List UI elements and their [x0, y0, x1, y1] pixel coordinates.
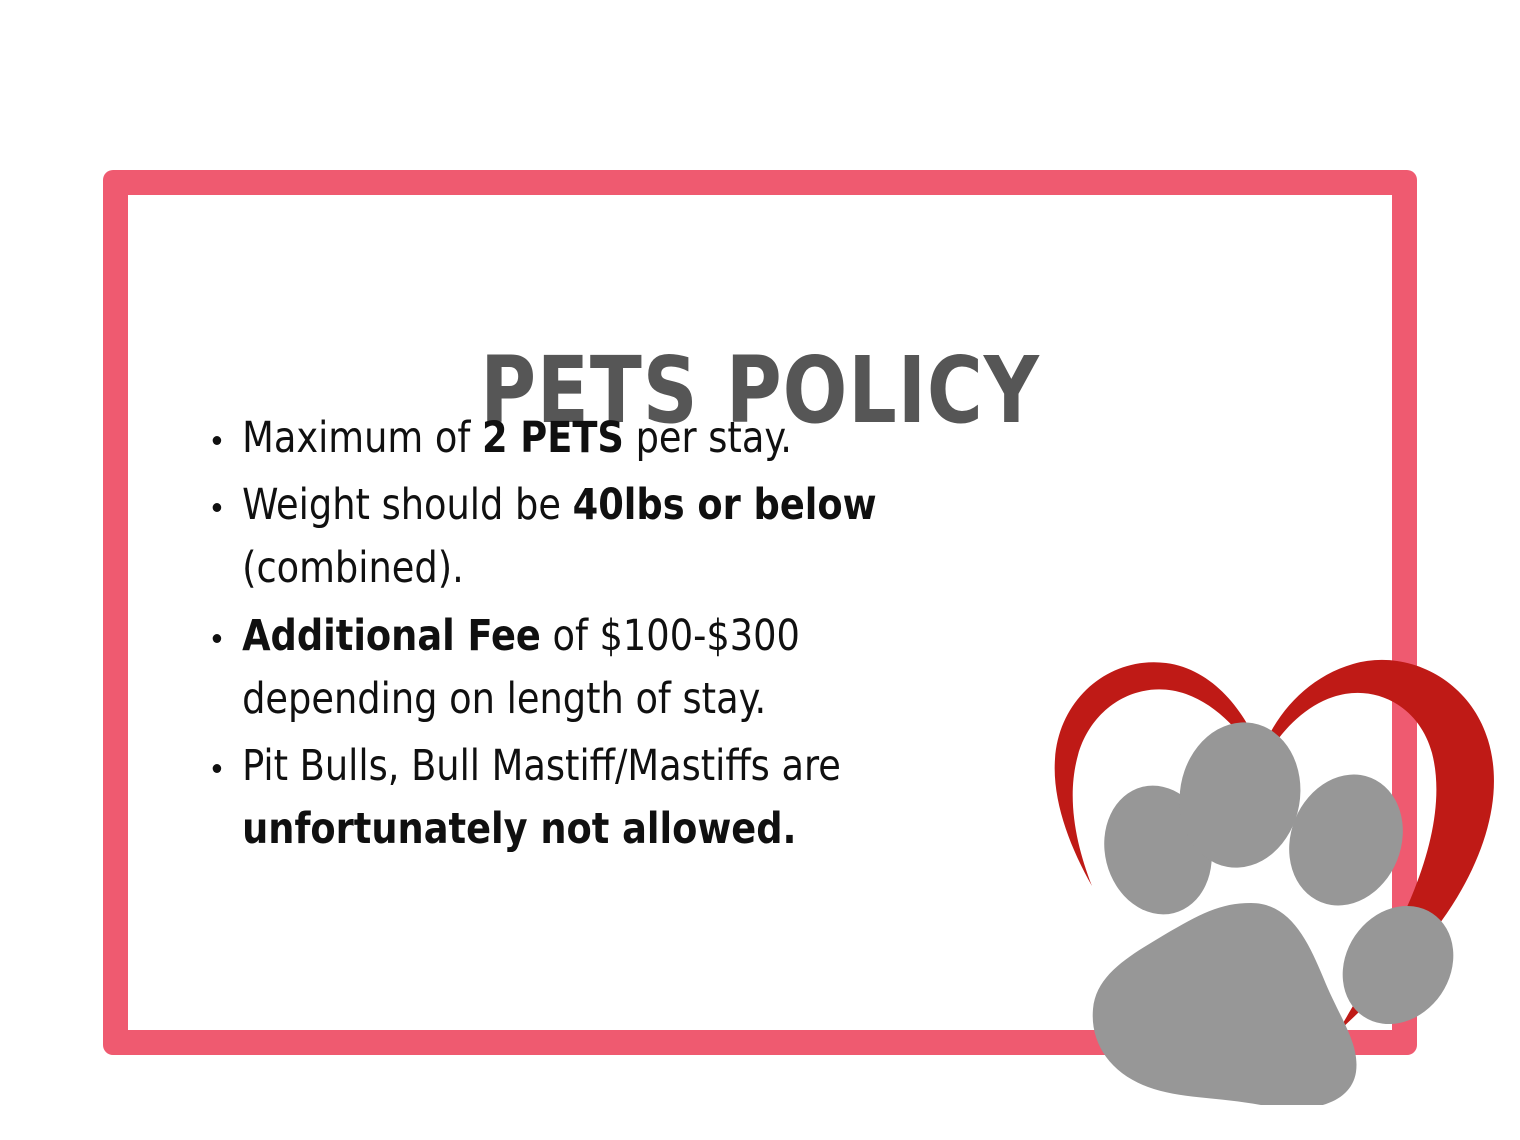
policy-emphasis: unfortunately not allowed.: [242, 804, 796, 854]
paw-main-pad: [1093, 903, 1357, 1105]
policy-emphasis: Additional Fee: [242, 611, 541, 661]
policy-emphasis: 2 PETS: [482, 413, 624, 463]
policy-text: Weight should be: [242, 480, 573, 530]
policy-text: per stay.: [624, 413, 792, 463]
policy-item: Additional Fee of $100-$300 depending on…: [206, 605, 890, 731]
sign-canvas: PETS POLICY Maximum of 2 PETS per stay.W…: [0, 0, 1520, 1140]
policy-list: Maximum of 2 PETS per stay.Weight should…: [206, 407, 926, 865]
pets-policy-sign: PETS POLICY Maximum of 2 PETS per stay.W…: [103, 170, 1417, 1055]
policy-text: (combined).: [242, 543, 464, 593]
policy-text: Maximum of: [242, 413, 482, 463]
policy-emphasis: 40lbs or below: [573, 480, 877, 530]
heart-paw-logo: [1008, 635, 1508, 1105]
policy-text: Pit Bulls, Bull Mastiff/Mastiffs are: [242, 741, 841, 791]
policy-item: Weight should be 40lbs or below (combine…: [206, 474, 890, 600]
policy-item: Pit Bulls, Bull Mastiff/Mastiffs are unf…: [206, 735, 890, 861]
policy-item: Maximum of 2 PETS per stay.: [206, 407, 890, 470]
